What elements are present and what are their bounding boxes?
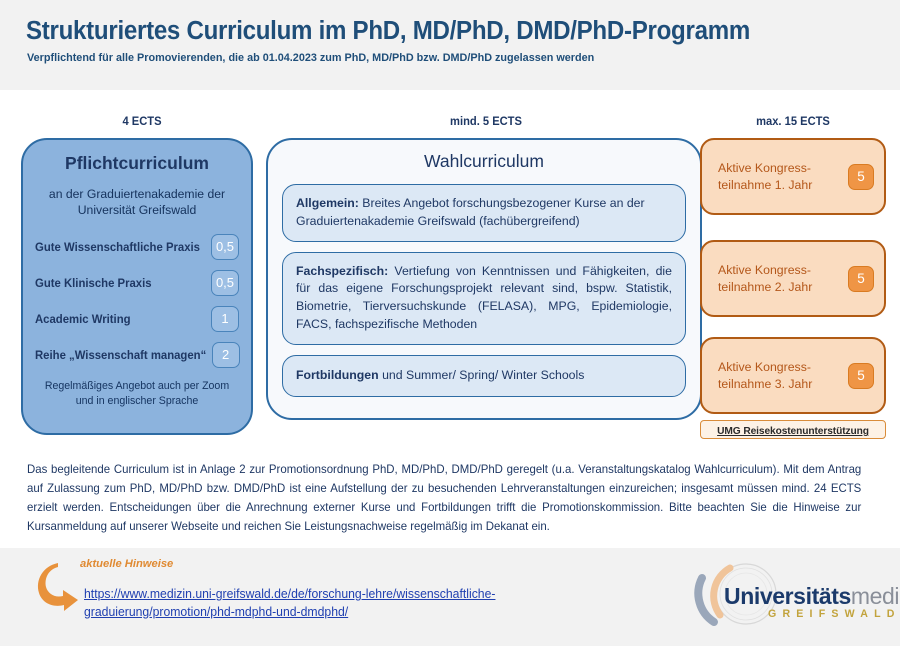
course-label: Reihe „Wissenschaft managen“ xyxy=(35,349,206,362)
congress-box-year-3: Aktive Kongress-teilnahme 3. Jahr 5 xyxy=(700,337,886,414)
body-paragraph: Das begleitende Curriculum ist in Anlage… xyxy=(27,461,861,537)
program-url-link[interactable]: https://www.medizin.uni-greifswald.de/de… xyxy=(84,586,588,622)
university-logo: Universitätsmedizin GREIFSWALD xyxy=(672,562,884,634)
elective-curriculum-panel: Wahlcurriculum Allgemein: Breites Angebo… xyxy=(266,138,702,420)
ects-badge: 1 xyxy=(211,306,239,332)
ects-badge: 2 xyxy=(212,342,240,368)
mandatory-curriculum-panel: Pflichtcurriculum an der Graduiertenakad… xyxy=(21,138,253,435)
logo-name-primary: Universitäts xyxy=(724,583,851,609)
ects-caption-elective: mind. 5 ECTS xyxy=(288,114,684,128)
ects-badge: 5 xyxy=(848,363,874,389)
ects-caption-congress: max. 15 ECTS xyxy=(709,114,876,128)
ects-badge: 0,5 xyxy=(211,270,239,296)
travel-support-box[interactable]: UMG Reisekostenunterstützung xyxy=(700,420,886,439)
list-item: Gute Wissenschaftliche Praxis 0,5 xyxy=(35,232,239,262)
elective-item-text: und Summer/ Spring/ Winter Schools xyxy=(379,368,585,382)
page-title: Strukturiertes Curriculum im PhD, MD/PhD… xyxy=(26,17,750,46)
ects-badge: 5 xyxy=(848,266,874,292)
list-item: Gute Klinische Praxis 0,5 xyxy=(35,268,239,298)
logo-city: GREIFSWALD xyxy=(768,608,900,620)
ects-badge: 5 xyxy=(848,164,874,190)
mandatory-course-list: Gute Wissenschaftliche Praxis 0,5 Gute K… xyxy=(35,232,239,370)
congress-label: Aktive Kongress-teilnahme 3. Jahr xyxy=(718,359,848,392)
elective-item-lead: Fachspezifisch: xyxy=(296,264,388,278)
logo-wordmark: Universitätsmedizin xyxy=(724,583,900,610)
mandatory-title: Pflichtcurriculum xyxy=(35,153,239,174)
course-label: Gute Wissenschaftliche Praxis xyxy=(35,241,206,254)
list-item: Academic Writing 1 xyxy=(35,304,239,334)
elective-title: Wahlcurriculum xyxy=(282,151,686,172)
mandatory-note: Regelmäßiges Angebot auch per Zoom und i… xyxy=(35,379,239,408)
congress-label: Aktive Kongress-teilnahme 2. Jahr xyxy=(718,262,848,295)
elective-item-specific: Fachspezifisch: Vertiefung von Kenntniss… xyxy=(282,252,686,345)
elective-item-lead: Allgemein: xyxy=(296,196,359,210)
congress-box-year-1: Aktive Kongress-teilnahme 1. Jahr 5 xyxy=(700,138,886,215)
congress-box-year-2: Aktive Kongress-teilnahme 2. Jahr 5 xyxy=(700,240,886,317)
mandatory-subtitle: an der Graduiertenakademie der Universit… xyxy=(35,186,239,218)
course-label: Gute Klinische Praxis xyxy=(35,277,206,290)
elective-item-trainings: Fortbildungen und Summer/ Spring/ Winter… xyxy=(282,355,686,397)
logo-name-secondary: medizin xyxy=(851,583,900,609)
elective-item-general: Allgemein: Breites Angebot forschungsbez… xyxy=(282,184,686,242)
infographic-page: Strukturiertes Curriculum im PhD, MD/PhD… xyxy=(0,0,900,646)
course-label: Academic Writing xyxy=(35,313,206,326)
travel-support-link[interactable]: UMG Reisekostenunterstützung xyxy=(717,426,869,437)
hint-label: aktuelle Hinweise xyxy=(80,558,173,570)
page-subtitle: Verpflichtend für alle Promovierenden, d… xyxy=(27,52,594,64)
congress-label: Aktive Kongress-teilnahme 1. Jahr xyxy=(718,160,848,193)
list-item: Reihe „Wissenschaft managen“ 2 xyxy=(35,340,239,370)
ects-badge: 0,5 xyxy=(211,234,239,260)
elective-item-lead: Fortbildungen xyxy=(296,368,379,382)
ects-caption-mandatory: 4 ECTS xyxy=(30,114,253,128)
